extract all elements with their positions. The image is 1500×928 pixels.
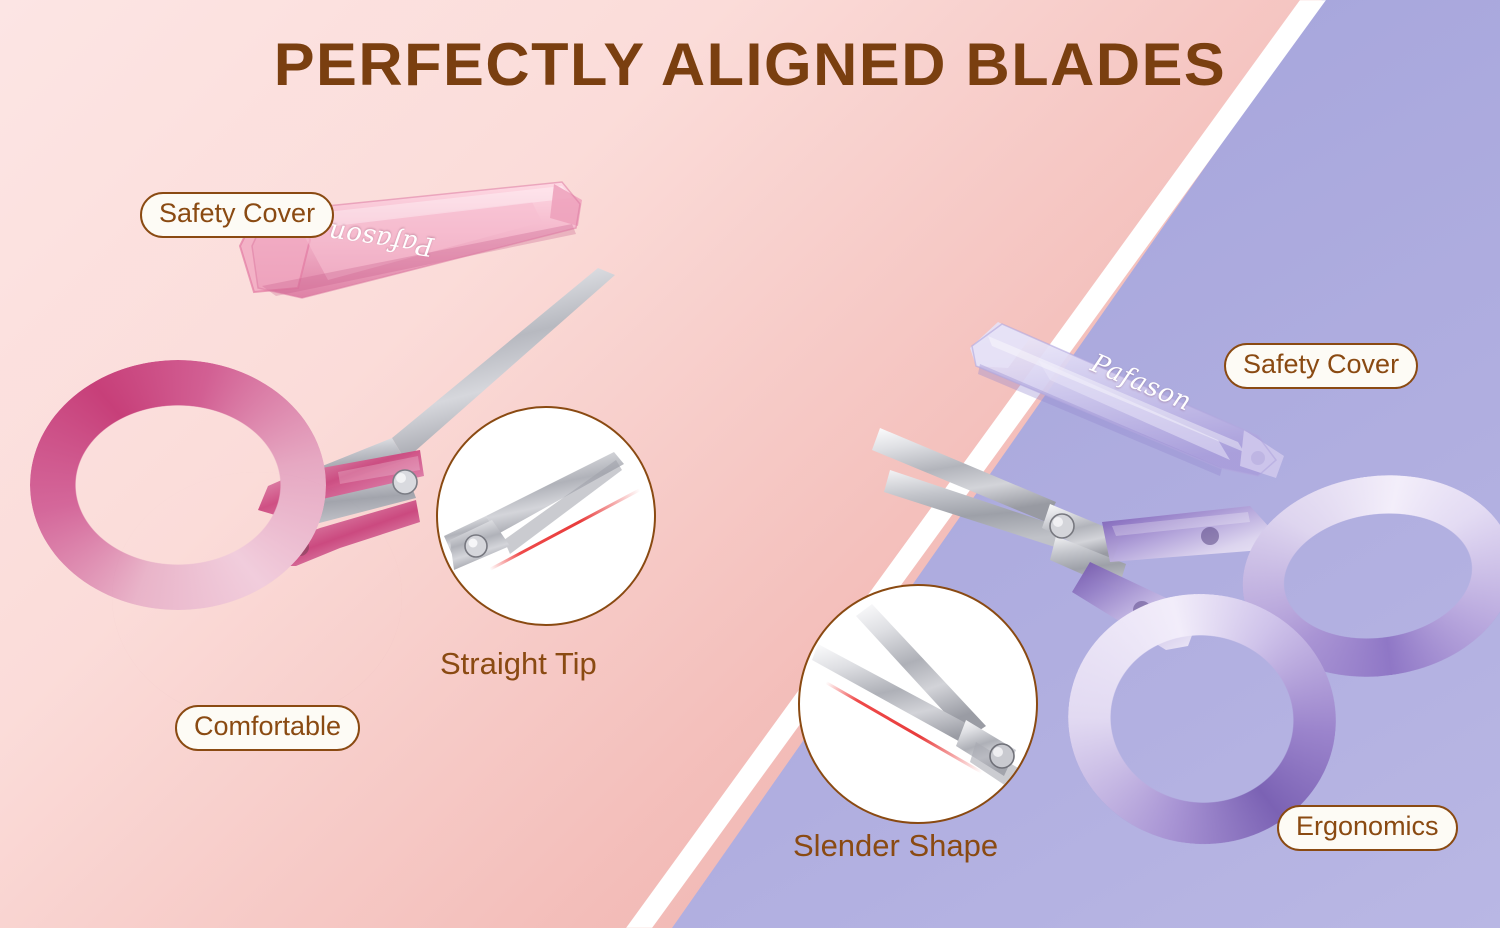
- pink-handle-ring-lower: [112, 472, 402, 722]
- straight-tip-caption: Straight Tip: [440, 646, 597, 682]
- page-title: PERFECTLY ALIGNED BLADES: [0, 30, 1500, 99]
- infographic-canvas: PERFECTLY ALIGNED BLADES: [0, 0, 1500, 928]
- purple-safety-cover: Pafason: [958, 318, 1318, 478]
- label-comfortable: Comfortable: [175, 705, 360, 751]
- slender-shape-inset: [798, 584, 1038, 824]
- label-ergonomics: Ergonomics: [1277, 805, 1458, 851]
- slender-shape-caption: Slender Shape: [793, 828, 998, 864]
- straight-tip-inset: [436, 406, 656, 626]
- label-safety-cover-right: Safety Cover: [1224, 343, 1418, 389]
- label-safety-cover-left: Safety Cover: [140, 192, 334, 238]
